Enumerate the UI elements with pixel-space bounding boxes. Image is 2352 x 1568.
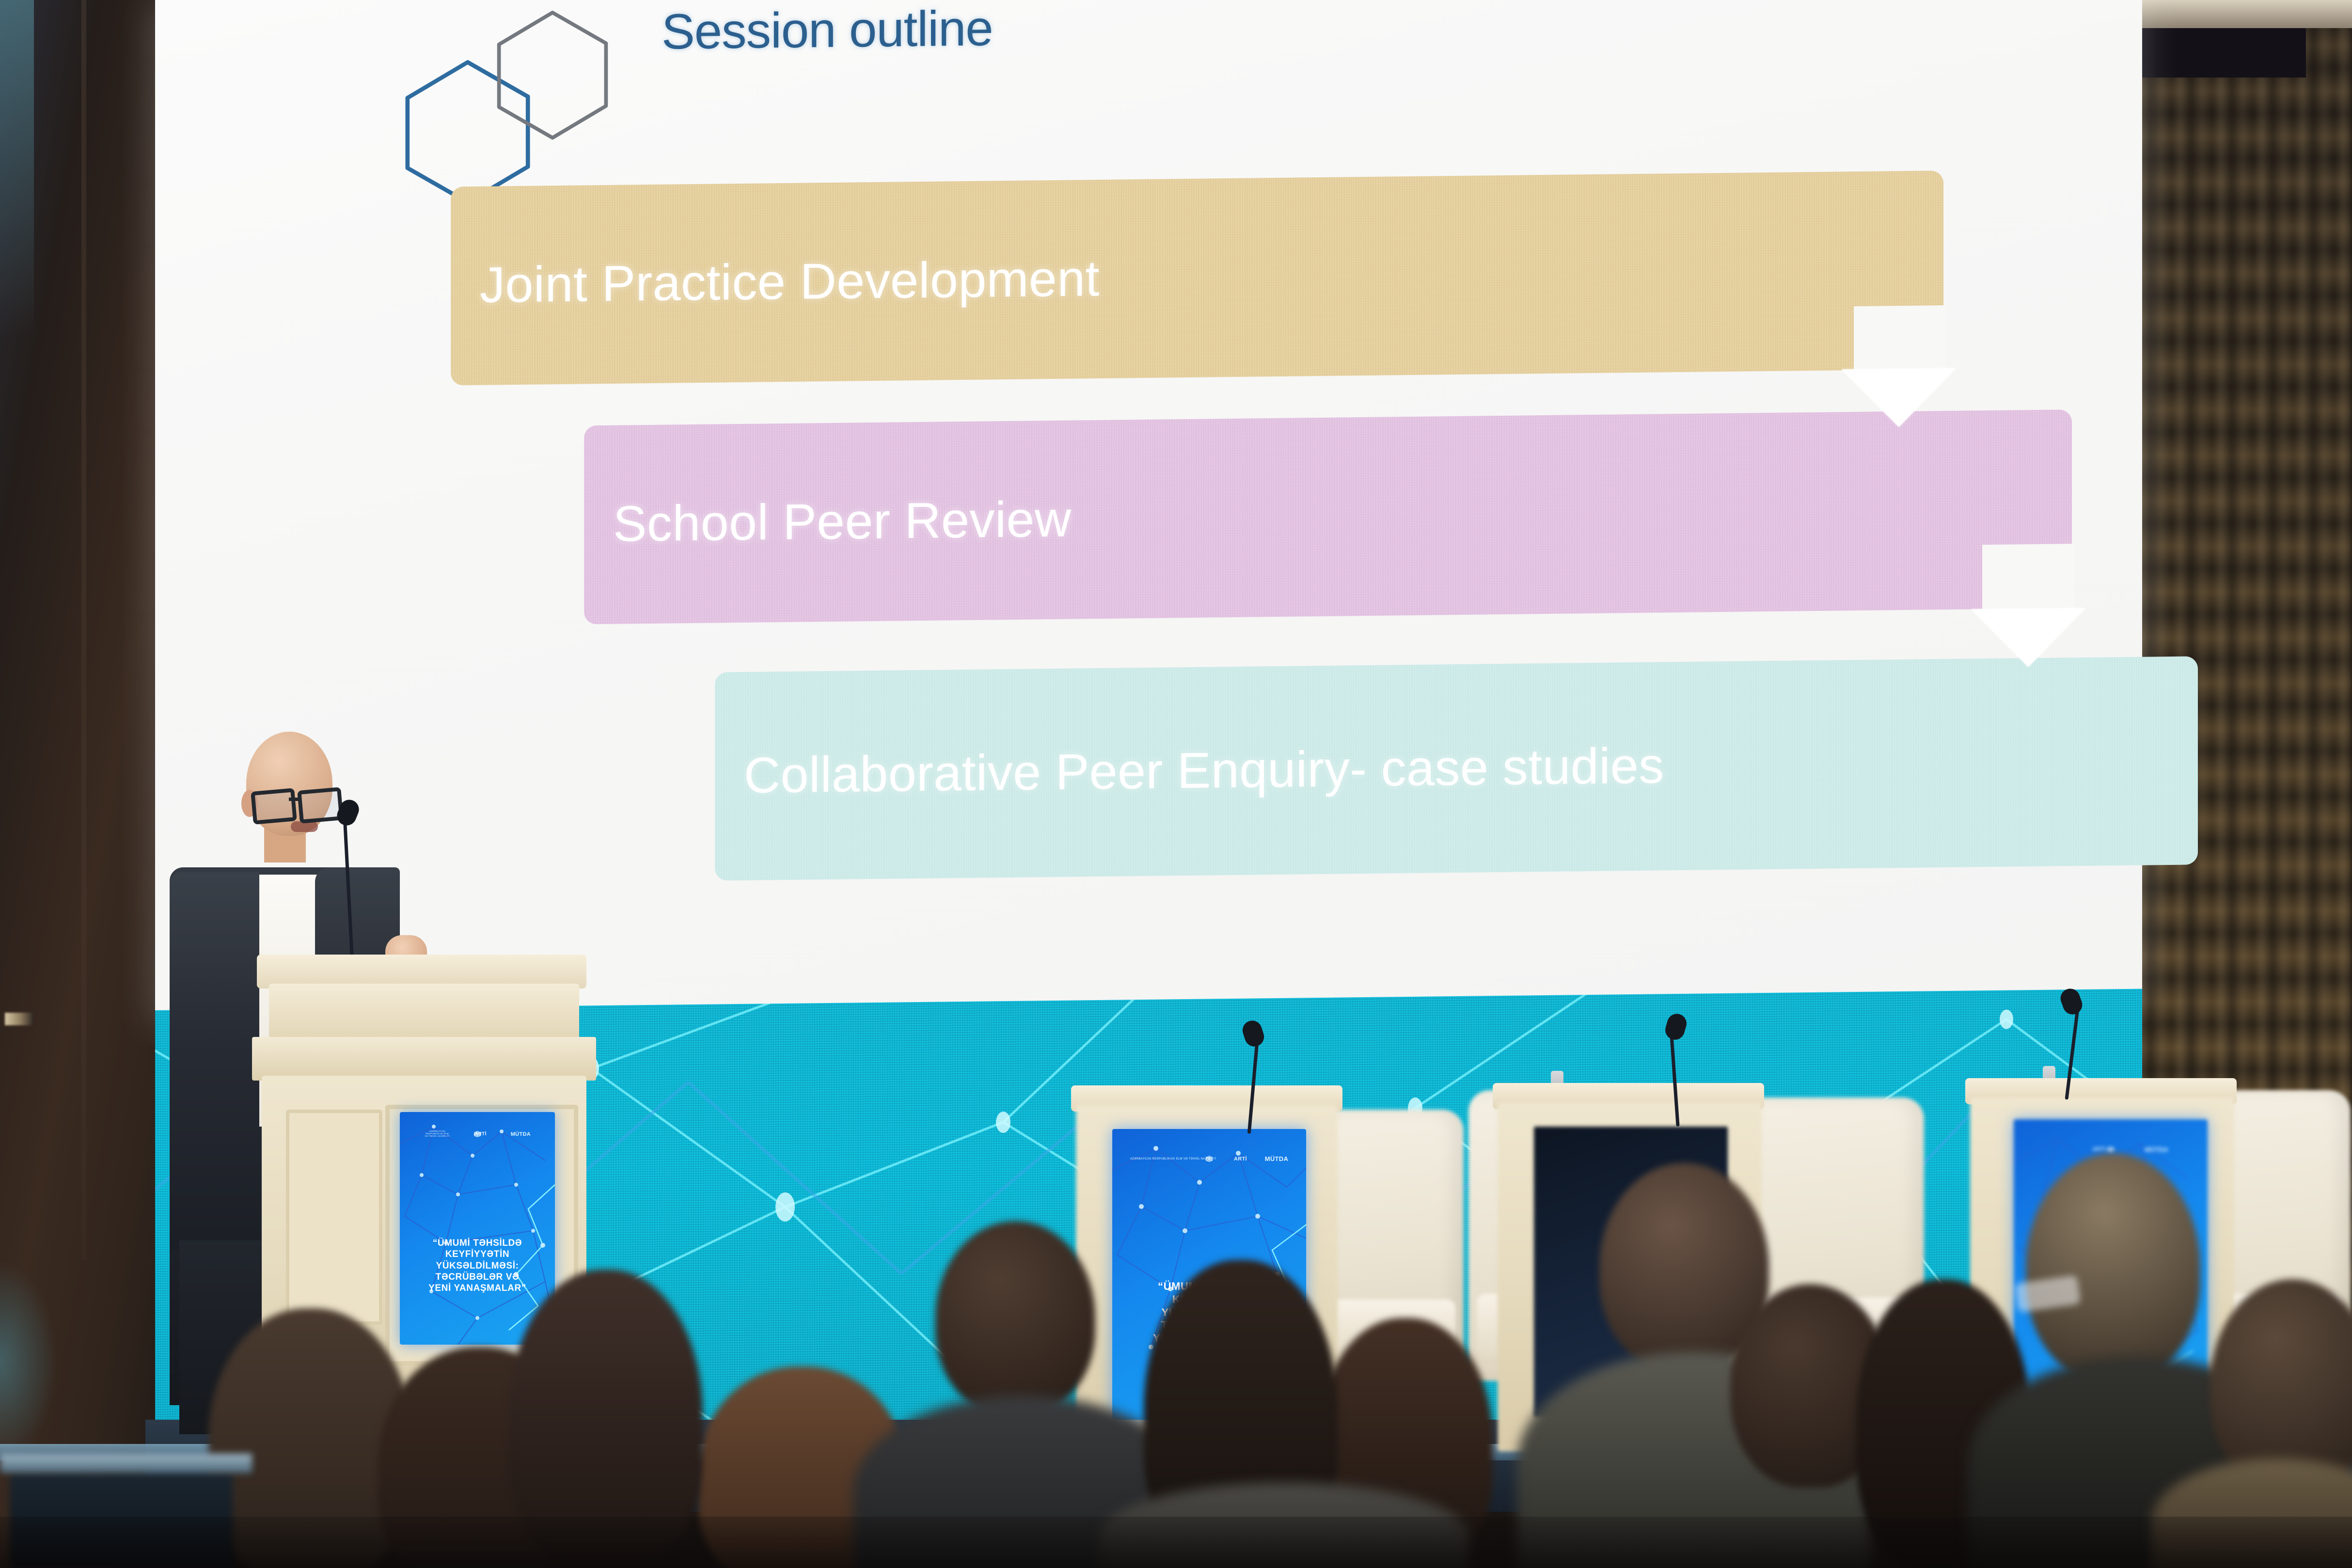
mutda-logo-icon: MÜTDA: [2145, 1146, 2168, 1153]
conference-photo-scene: Session outline Joint Practice Developme…: [0, 0, 2352, 1568]
lectern-gooseneck-microphone: [334, 790, 373, 955]
speaker-glasses: [252, 790, 344, 819]
event-title-line: YÜKSƏLDİLMƏSİ:: [409, 1260, 546, 1271]
slide-title: Session outline: [662, 0, 993, 61]
bar-1-notch: [1854, 305, 1946, 372]
left-wall-bottom-glow: [0, 1260, 58, 1463]
bar-2-notch: [1982, 544, 2074, 610]
event-title-line: “ÜMUMİ TƏHSİLDƏ: [409, 1238, 546, 1249]
microphone: [1241, 1013, 1275, 1134]
main-lectern-cornice: [252, 1037, 596, 1081]
main-lectern-shelf: [269, 984, 579, 1042]
main-lectern-branding-screen: AZƏRBAYCAN RESPUBLİKASI ELM VƏ TƏHSİL NA…: [400, 1112, 555, 1345]
outline-item-1-label: Joint Practice Development: [480, 252, 1100, 313]
event-title-line: TƏCRÜBƏLƏR VƏ: [409, 1271, 546, 1283]
event-title-line: YENİ YANAŞMALAR”: [409, 1283, 546, 1294]
projection-screen: Session outline Joint Practice Developme…: [155, 0, 2142, 1022]
outline-item-1: Joint Practice Development: [451, 171, 1943, 385]
audience-head: [2026, 1153, 2200, 1381]
lectern-event-title: “ÜMUMİ TƏHSİLDƏ KEYFİYYƏTİN YÜKSƏLDİLMƏS…: [409, 1238, 546, 1294]
outline-item-2: School Peer Review: [584, 409, 2072, 624]
main-lectern-left-panel: [286, 1110, 382, 1325]
outline-item-3-label: Collaborative Peer Enquiry- case studies: [744, 739, 1664, 803]
outline-item-3: Collaborative Peer Enquiry- case studies: [715, 656, 2198, 880]
microphone: [2060, 988, 2094, 1100]
audience-head: [935, 1221, 1095, 1415]
left-wall-light-glow: [0, 0, 34, 397]
mutda-logo-icon: MÜTDA: [511, 1131, 531, 1137]
speaker-jacket-lapel-left: [170, 872, 259, 1250]
stage-rail: [0, 1454, 252, 1473]
arrow-1-to-2-icon: [1842, 368, 1956, 428]
event-title-line: KEYFİYYƏTİN: [409, 1249, 546, 1260]
foreground-vignette: [0, 1517, 2352, 1568]
mutda-logo-icon: MÜTDA: [1265, 1155, 1288, 1162]
left-wall-light-strip: [5, 1013, 34, 1025]
hexagon-gray-icon: [494, 10, 611, 141]
outline-item-2-label: School Peer Review: [613, 493, 1071, 551]
arrow-2-to-3-icon: [1971, 608, 2085, 668]
microphone: [1662, 1008, 1696, 1129]
